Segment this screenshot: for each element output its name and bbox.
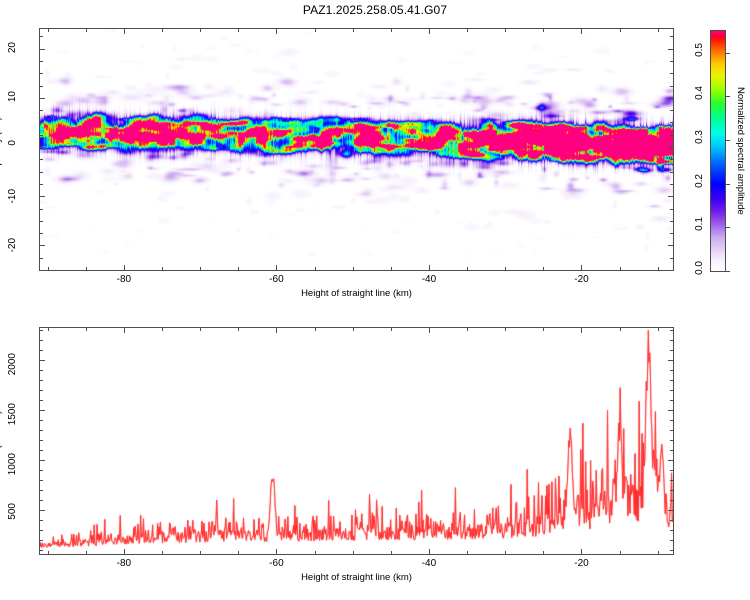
y-tick bbox=[40, 258, 43, 259]
spectrogram-y-axis-title: Frequency (Hz) bbox=[0, 117, 3, 182]
x-tick bbox=[543, 29, 544, 32]
figure-root: PAZ1.2025.258.05.41.G07 -80-60-40-20 -20… bbox=[0, 0, 750, 600]
y-tick bbox=[670, 480, 673, 481]
x-tick bbox=[658, 267, 659, 270]
x-tick bbox=[200, 551, 201, 554]
x-tick bbox=[429, 29, 430, 34]
y-tick bbox=[670, 184, 673, 185]
x-tick-label: -40 bbox=[422, 558, 436, 569]
x-tick bbox=[581, 29, 582, 34]
y-tick bbox=[668, 510, 673, 511]
x-tick bbox=[276, 29, 277, 34]
y-tick bbox=[40, 360, 45, 361]
y-tick bbox=[670, 370, 673, 371]
y-tick bbox=[670, 159, 673, 160]
spectrogram-canvas bbox=[40, 29, 673, 270]
figure-title: PAZ1.2025.258.05.41.G07 bbox=[0, 3, 750, 17]
y-tick bbox=[670, 470, 673, 471]
y-tick bbox=[670, 520, 673, 521]
x-tick-label: -20 bbox=[574, 274, 588, 285]
y-tick bbox=[670, 390, 673, 391]
y-tick bbox=[40, 520, 43, 521]
x-tick-label: -80 bbox=[117, 274, 131, 285]
x-tick bbox=[620, 551, 621, 554]
x-tick bbox=[581, 265, 582, 270]
y-tick-label: 0 bbox=[7, 140, 33, 146]
y-tick bbox=[668, 460, 673, 461]
x-tick bbox=[86, 267, 87, 270]
x-tick-label: -60 bbox=[269, 558, 283, 569]
x-tick bbox=[238, 328, 239, 331]
x-tick bbox=[429, 265, 430, 270]
spectrogram-plot-area bbox=[40, 29, 673, 270]
x-tick bbox=[238, 551, 239, 554]
y-tick bbox=[670, 172, 673, 173]
x-tick bbox=[200, 328, 201, 331]
y-tick bbox=[670, 350, 673, 351]
x-tick-label: -60 bbox=[269, 274, 283, 285]
y-tick bbox=[40, 500, 43, 501]
y-tick bbox=[670, 330, 673, 331]
colorbar-tick bbox=[726, 53, 730, 54]
y-tick bbox=[670, 233, 673, 234]
y-tick bbox=[668, 49, 673, 50]
x-tick bbox=[86, 29, 87, 32]
y-tick-label: 500 bbox=[7, 503, 33, 520]
x-tick bbox=[620, 29, 621, 32]
snr-canvas bbox=[40, 328, 673, 554]
y-tick bbox=[670, 86, 673, 87]
y-tick bbox=[670, 73, 673, 74]
y-tick bbox=[40, 172, 43, 173]
y-tick bbox=[40, 233, 43, 234]
y-tick bbox=[40, 270, 43, 271]
x-tick bbox=[658, 29, 659, 32]
x-tick bbox=[315, 551, 316, 554]
y-tick bbox=[668, 245, 673, 246]
colorbar-title: Normalized spectral amplitude bbox=[735, 34, 746, 268]
x-tick bbox=[48, 267, 49, 270]
x-tick bbox=[200, 267, 201, 270]
y-tick bbox=[670, 209, 673, 210]
x-tick bbox=[162, 29, 163, 32]
x-tick bbox=[238, 29, 239, 32]
y-tick bbox=[40, 410, 45, 411]
colorbar-tick-label: 0.1 bbox=[694, 217, 705, 231]
y-tick bbox=[40, 440, 43, 441]
x-tick bbox=[467, 267, 468, 270]
y-tick bbox=[40, 350, 43, 351]
y-tick bbox=[40, 36, 43, 37]
y-tick bbox=[670, 270, 673, 271]
colorbar bbox=[710, 30, 726, 272]
x-tick bbox=[543, 551, 544, 554]
y-tick bbox=[40, 49, 45, 50]
x-tick bbox=[467, 29, 468, 32]
x-tick bbox=[124, 549, 125, 554]
y-tick-label: 2000 bbox=[7, 353, 33, 375]
x-tick bbox=[162, 551, 163, 554]
x-tick-label: -40 bbox=[422, 274, 436, 285]
y-tick-label: -20 bbox=[7, 238, 33, 252]
colorbar-tick-label: 0.4 bbox=[694, 86, 705, 100]
x-tick bbox=[353, 267, 354, 270]
y-tick bbox=[40, 135, 43, 136]
y-tick bbox=[40, 122, 43, 123]
y-tick-label: 20 bbox=[7, 42, 33, 53]
x-tick bbox=[658, 551, 659, 554]
y-tick bbox=[670, 530, 673, 531]
y-tick bbox=[40, 209, 43, 210]
colorbar-tick bbox=[726, 96, 730, 97]
y-tick-label: 1500 bbox=[7, 403, 33, 425]
y-tick bbox=[40, 510, 45, 511]
x-tick bbox=[124, 265, 125, 270]
x-tick-label: -20 bbox=[574, 558, 588, 569]
y-tick bbox=[40, 390, 43, 391]
y-tick bbox=[670, 550, 673, 551]
y-tick bbox=[670, 380, 673, 381]
x-tick bbox=[276, 328, 277, 333]
x-tick bbox=[124, 328, 125, 333]
y-tick bbox=[40, 196, 45, 197]
x-tick bbox=[353, 328, 354, 331]
y-tick bbox=[40, 420, 43, 421]
x-tick bbox=[505, 267, 506, 270]
snr-plot-area bbox=[40, 328, 673, 554]
y-tick bbox=[670, 420, 673, 421]
y-tick bbox=[670, 36, 673, 37]
y-tick bbox=[40, 159, 43, 160]
snr-panel bbox=[39, 327, 674, 555]
x-tick bbox=[86, 551, 87, 554]
x-tick bbox=[543, 267, 544, 270]
y-tick bbox=[40, 430, 43, 431]
y-tick bbox=[670, 221, 673, 222]
y-tick bbox=[40, 450, 43, 451]
colorbar-tick-label: 0.3 bbox=[694, 130, 705, 144]
x-tick-label: -80 bbox=[117, 558, 131, 569]
x-tick bbox=[124, 29, 125, 34]
x-tick bbox=[581, 328, 582, 333]
y-tick bbox=[40, 340, 43, 341]
x-tick bbox=[353, 29, 354, 32]
x-tick bbox=[315, 29, 316, 32]
x-tick bbox=[162, 328, 163, 331]
y-tick bbox=[40, 370, 43, 371]
x-tick bbox=[391, 29, 392, 32]
y-tick bbox=[670, 540, 673, 541]
x-tick bbox=[86, 328, 87, 331]
colorbar-tick bbox=[726, 227, 730, 228]
y-tick bbox=[670, 258, 673, 259]
x-tick bbox=[391, 551, 392, 554]
x-tick bbox=[658, 328, 659, 331]
x-tick bbox=[467, 551, 468, 554]
y-tick bbox=[40, 460, 45, 461]
snr-y-axis-title: SNR (10 * v/v) bbox=[0, 411, 3, 472]
x-tick bbox=[581, 549, 582, 554]
x-tick bbox=[620, 328, 621, 331]
x-tick bbox=[429, 328, 430, 333]
colorbar-tick-label: 0.0 bbox=[694, 261, 705, 275]
y-tick bbox=[40, 245, 45, 246]
spectrogram-panel bbox=[39, 28, 674, 271]
y-tick bbox=[40, 73, 43, 74]
y-tick bbox=[40, 98, 45, 99]
y-tick bbox=[670, 135, 673, 136]
y-tick bbox=[40, 480, 43, 481]
y-tick bbox=[670, 122, 673, 123]
x-tick bbox=[48, 328, 49, 331]
x-tick bbox=[620, 267, 621, 270]
colorbar-tick bbox=[726, 140, 730, 141]
y-tick bbox=[668, 410, 673, 411]
x-tick bbox=[429, 549, 430, 554]
x-tick bbox=[505, 551, 506, 554]
x-tick bbox=[391, 267, 392, 270]
x-tick bbox=[315, 328, 316, 331]
colorbar-tick-label: 0.2 bbox=[694, 174, 705, 188]
y-tick bbox=[670, 500, 673, 501]
colorbar-gradient bbox=[710, 30, 726, 272]
x-tick bbox=[505, 29, 506, 32]
y-tick bbox=[40, 330, 43, 331]
y-tick bbox=[668, 360, 673, 361]
y-tick bbox=[670, 440, 673, 441]
y-tick bbox=[670, 340, 673, 341]
y-tick bbox=[670, 61, 673, 62]
x-tick bbox=[162, 267, 163, 270]
y-tick bbox=[40, 550, 43, 551]
snr-x-axis-title: Height of straight line (km) bbox=[301, 572, 412, 583]
y-tick bbox=[40, 380, 43, 381]
y-tick-label: 1000 bbox=[7, 453, 33, 475]
x-tick bbox=[48, 29, 49, 32]
y-tick bbox=[40, 86, 43, 87]
x-tick bbox=[276, 265, 277, 270]
y-tick bbox=[40, 490, 43, 491]
x-tick bbox=[48, 551, 49, 554]
y-tick bbox=[670, 450, 673, 451]
y-tick bbox=[670, 430, 673, 431]
x-tick bbox=[467, 328, 468, 331]
y-tick bbox=[40, 540, 43, 541]
y-tick bbox=[40, 184, 43, 185]
colorbar-tick bbox=[726, 184, 730, 185]
spectrogram-x-axis-title: Height of straight line (km) bbox=[301, 288, 412, 299]
y-tick bbox=[40, 61, 43, 62]
y-tick bbox=[40, 400, 43, 401]
y-tick bbox=[40, 530, 43, 531]
y-tick bbox=[668, 98, 673, 99]
x-tick bbox=[505, 328, 506, 331]
colorbar-tick-label: 0.5 bbox=[694, 43, 705, 57]
x-tick bbox=[543, 328, 544, 331]
y-tick bbox=[40, 470, 43, 471]
y-tick bbox=[40, 110, 43, 111]
x-tick bbox=[200, 29, 201, 32]
y-tick-label: 10 bbox=[7, 91, 33, 102]
x-tick bbox=[276, 549, 277, 554]
y-tick bbox=[670, 400, 673, 401]
y-tick bbox=[40, 221, 43, 222]
x-tick bbox=[315, 267, 316, 270]
y-tick bbox=[668, 196, 673, 197]
x-tick bbox=[238, 267, 239, 270]
x-tick bbox=[391, 328, 392, 331]
y-tick bbox=[668, 147, 673, 148]
y-tick bbox=[40, 147, 45, 148]
y-tick-label: -10 bbox=[7, 189, 33, 203]
y-tick bbox=[670, 490, 673, 491]
y-tick bbox=[670, 110, 673, 111]
x-tick bbox=[353, 551, 354, 554]
colorbar-tick bbox=[726, 271, 730, 272]
